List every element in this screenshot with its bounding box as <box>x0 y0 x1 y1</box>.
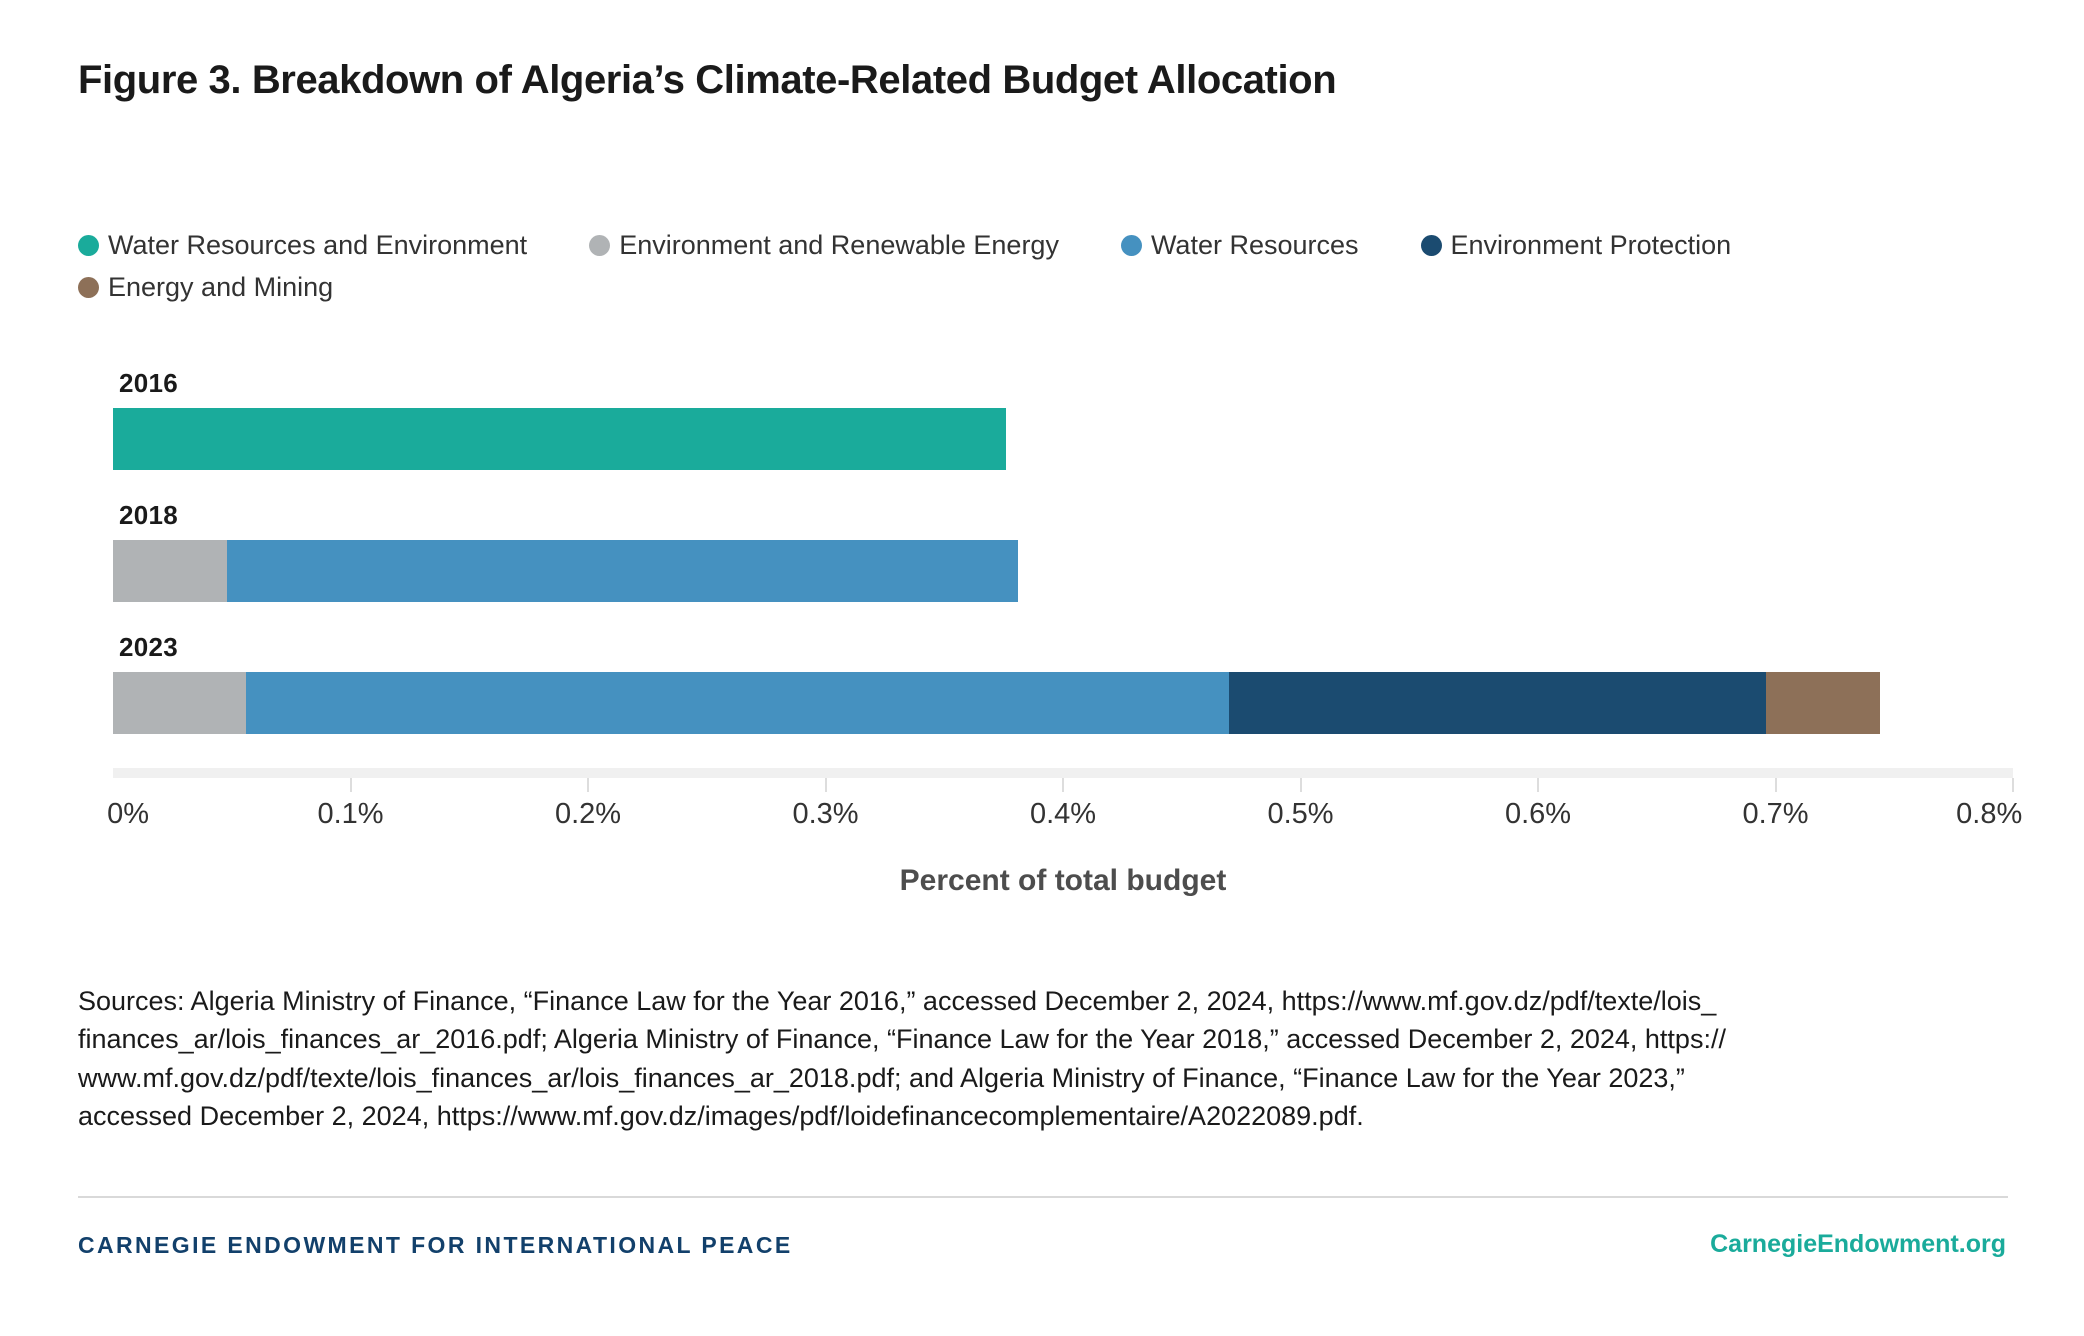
legend-item[interactable]: Environment and Renewable Energy <box>589 228 1059 262</box>
axis-tick-mark <box>587 778 589 792</box>
bar-segment[interactable] <box>246 672 1229 734</box>
bar-row: 2023 <box>113 632 2013 742</box>
legend-item[interactable]: Water Resources and Environment <box>78 228 527 262</box>
axis-tick-label: 0% <box>107 798 149 831</box>
legend-item-label: Energy and Mining <box>108 274 333 301</box>
bar-segment[interactable] <box>1766 672 1880 734</box>
stacked-bar[interactable] <box>113 408 2013 470</box>
bar-year-label: 2016 <box>119 368 178 399</box>
chart-plot-area: 201620182023 <box>113 368 2013 768</box>
axis-tick-label: 0.7% <box>1742 798 1808 831</box>
bar-segment[interactable] <box>113 408 1006 470</box>
x-axis-title: Percent of total budget <box>113 864 2013 898</box>
bar-year-label: 2018 <box>119 500 178 531</box>
axis-tick-label: 0.3% <box>792 798 858 831</box>
legend-swatch-icon <box>78 277 99 298</box>
legend-swatch-icon <box>589 235 610 256</box>
legend-swatch-icon <box>1121 235 1142 256</box>
axis-tick-mark <box>1300 778 1302 792</box>
legend-item[interactable]: Environment Protection <box>1421 228 1732 262</box>
page-title: Figure 3. Breakdown of Algeria’s Climate… <box>78 58 1336 103</box>
footer-organization: CARNEGIE ENDOWMENT FOR INTERNATIONAL PEA… <box>78 1232 793 1259</box>
sources-note: Sources: Algeria Ministry of Finance, “F… <box>78 982 2018 1135</box>
axis-tick-label: 0.1% <box>317 798 383 831</box>
footer-divider <box>78 1196 2008 1198</box>
axis-tick-mark <box>1775 778 1777 792</box>
legend-item[interactable]: Energy and Mining <box>78 270 333 304</box>
bar-row: 2018 <box>113 500 2013 610</box>
chart-legend: Water Resources and EnvironmentEnvironme… <box>78 228 2008 304</box>
legend-swatch-icon <box>1421 235 1442 256</box>
footer-website-link[interactable]: CarnegieEndowment.org <box>1710 1230 2006 1259</box>
axis-tick-label: 0.2% <box>555 798 621 831</box>
bar-segment[interactable] <box>227 540 1018 602</box>
stacked-bar[interactable] <box>113 540 2013 602</box>
legend-item-label: Environment and Renewable Energy <box>619 232 1059 259</box>
bar-year-label: 2023 <box>119 632 178 663</box>
axis-tick-label: 0.5% <box>1267 798 1333 831</box>
axis-tick-label: 0.4% <box>1030 798 1096 831</box>
axis-tick-mark <box>1537 778 1539 792</box>
sources-line: Sources: Algeria Ministry of Finance, “F… <box>78 982 2018 1020</box>
axis-tick-mark <box>825 778 827 792</box>
legend-item-label: Water Resources <box>1151 232 1359 259</box>
bar-row: 2016 <box>113 368 2013 478</box>
legend-item-label: Water Resources and Environment <box>108 232 527 259</box>
legend-item[interactable]: Water Resources <box>1121 228 1359 262</box>
sources-line: www.mf.gov.dz/pdf/texte/lois_finances_ar… <box>78 1059 2018 1097</box>
legend-item-label: Environment Protection <box>1451 232 1732 259</box>
bar-segment[interactable] <box>113 540 227 602</box>
axis-tick-mark <box>350 778 352 792</box>
x-axis: Percent of total budget 0%0.1%0.2%0.3%0.… <box>113 768 2013 888</box>
figure-page: Figure 3. Breakdown of Algeria’s Climate… <box>0 0 2084 1336</box>
axis-baseline <box>113 768 2013 778</box>
axis-tick-mark <box>2012 778 2014 792</box>
legend-swatch-icon <box>78 235 99 256</box>
sources-line: finances_ar/lois_finances_ar_2016.pdf; A… <box>78 1020 2018 1058</box>
sources-line: accessed December 2, 2024, https://www.m… <box>78 1097 2018 1135</box>
bar-segment[interactable] <box>113 672 246 734</box>
stacked-bar[interactable] <box>113 672 2013 734</box>
bar-segment[interactable] <box>1229 672 1766 734</box>
axis-tick-mark <box>1062 778 1064 792</box>
axis-tick-label: 0.8% <box>1956 798 2022 831</box>
axis-tick-label: 0.6% <box>1505 798 1571 831</box>
